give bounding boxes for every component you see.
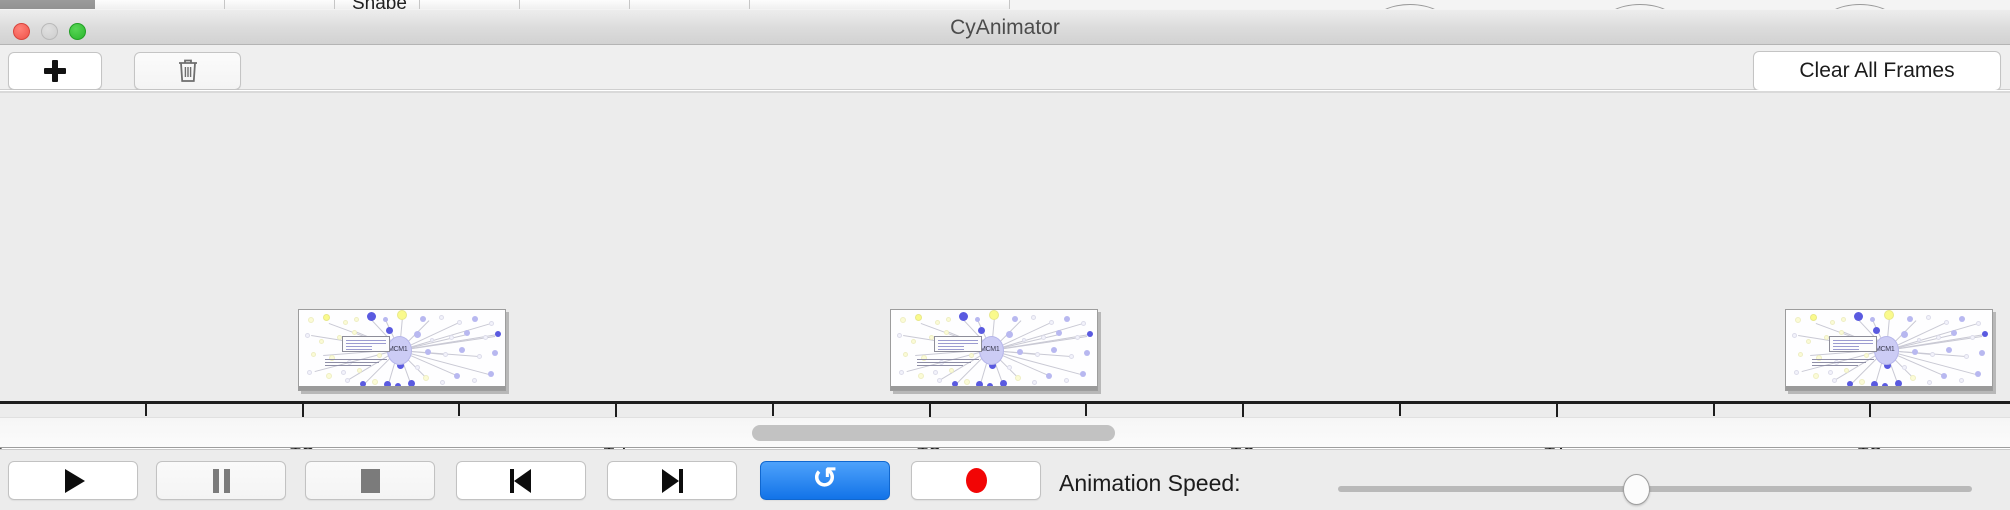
graph-node [1056,330,1062,336]
skip-back-button[interactable] [456,461,586,500]
graph-node [1084,350,1090,356]
graph-node [1046,373,1052,379]
network-graph: MCM1 [1786,310,1992,390]
graph-node [1830,320,1835,325]
graph-node [1069,354,1074,359]
graph-node [1970,335,1975,340]
graph-node [1841,317,1846,322]
annotation-text-line [1833,349,1859,350]
graph-node [319,339,324,344]
graph-node [1941,373,1947,379]
graph-node [1873,327,1880,334]
skip-back-icon [510,469,532,493]
graph-node [1944,320,1949,325]
graph-node [345,378,350,383]
graph-node [975,317,980,322]
graph-caption-line [1812,359,1874,360]
graph-node [946,317,951,322]
graph-node [357,368,362,373]
graph-node [308,317,314,323]
thumbnail-bottom-bar [299,386,505,390]
graph-node [1975,371,1981,377]
clear-all-frames-button[interactable]: Clear All Frames [1753,51,2001,91]
graph-node [937,378,942,383]
graph-node [472,316,478,322]
graph-node [929,335,934,340]
network-graph: MCM1 [299,310,505,390]
axis-tick [772,404,774,416]
graph-caption-line [917,362,971,363]
title-bar[interactable]: CyAnimator [0,9,2010,45]
graph-caption-line [917,359,979,360]
graph-node [386,327,393,334]
graph-caption-line [1812,365,1858,366]
frame-thumbnail[interactable]: MCM1 [298,309,506,391]
graph-caption-line [917,365,963,366]
annotation-text-line [1833,346,1859,347]
graph-node [1810,314,1817,321]
graph-node [1035,352,1040,357]
graph-node [1795,317,1801,323]
graph-node [1792,333,1797,338]
annotation-text-line [1833,343,1873,344]
graph-node [477,354,482,359]
transport-bar: ↺ Animation Speed: [0,449,2010,510]
graph-node [969,353,974,358]
graph-node [1012,316,1018,322]
graph-node [1979,350,1985,356]
graph-node [430,338,434,342]
graph-node [1041,335,1046,340]
graph-node [978,327,985,334]
annotation-box [1829,336,1877,352]
animation-speed-label: Animation Speed: [1059,470,1241,497]
axis-tick [1713,404,1715,416]
loop-icon: ↺ [812,464,837,494]
graph-caption-line [325,365,371,366]
graph-node [964,379,970,385]
graph-node [1006,331,1013,338]
graph-node [423,375,429,381]
graph-node [397,310,407,320]
graph-node [439,315,444,320]
axis-tick [458,404,460,416]
graph-node [1087,331,1093,337]
timeline-panel[interactable]: MCM1MCM1MCM1 12131415161718 Seconds [0,90,2010,417]
graph-node [935,320,940,325]
record-button[interactable] [911,461,1041,500]
graph-node [1884,310,1894,320]
graph-node [949,368,954,373]
graph-node [1839,330,1844,335]
graph-node [1951,330,1957,336]
graph-node [307,370,312,375]
timeline-top-divider [0,91,2010,93]
graph-node [1901,331,1908,338]
graph-node [933,370,938,375]
frame-thumbnail[interactable]: MCM1 [890,309,1098,391]
graph-node [341,370,346,375]
graph-node [443,352,448,357]
skip-forward-icon [661,469,683,493]
graph-node [1813,373,1819,379]
annotation-text-line [938,343,978,344]
hub-node-label: MCM1 [1875,346,1894,353]
graph-node [1946,347,1952,353]
thumbnail-bottom-bar [1786,386,1992,390]
hub-node-label: MCM1 [388,346,407,353]
annotation-text-line [346,343,386,344]
pause-button[interactable] [156,461,286,500]
graph-node [1064,378,1069,383]
annotation-text-line [938,340,978,341]
graph-node [372,379,378,385]
delete-frame-button[interactable] [134,52,241,90]
graph-node [311,352,316,357]
graph-node [1936,335,1941,340]
annotation-text-line [346,340,386,341]
graph-node [1902,365,1907,370]
graph-node [1870,317,1875,322]
graph-node [1015,375,1021,381]
graph-node [483,335,488,340]
graph-node [1859,379,1865,385]
annotation-text-line [346,349,372,350]
graph-node [1049,320,1054,325]
play-icon [65,469,85,493]
graph-node [959,312,968,321]
graph-node [1051,347,1057,353]
graph-node [1964,354,1969,359]
graph-node [495,331,501,337]
graph-node [918,373,924,379]
graph-node [425,349,431,355]
graph-node [420,316,426,322]
add-frame-button[interactable] [8,52,102,90]
graph-node [464,330,470,336]
graph-node [337,335,342,340]
annotation-text-line [346,346,372,347]
graph-node [1910,375,1916,381]
annotation-text-line [1833,340,1873,341]
toolbar: Clear All Frames [0,45,2010,90]
pause-icon [213,469,230,493]
graph-node [449,335,454,340]
graph-node [1794,370,1799,375]
graph-node [459,347,465,353]
graph-caption-line [1812,362,1866,363]
timeline-scrollbar[interactable] [0,417,2010,448]
graph-caption-line [325,362,379,363]
graph-node [329,355,335,361]
graph-node [1806,339,1811,344]
graph-node [1032,380,1037,385]
annotation-text-line [938,346,964,347]
hub-node-label: MCM1 [980,346,999,353]
graph-node [1927,380,1932,385]
axis-tick [145,404,147,416]
graph-node [472,378,477,383]
graph-node [1912,349,1918,355]
annotation-box [342,336,390,352]
graph-node [1824,335,1829,340]
graph-node [1031,315,1036,320]
graph-node [1917,338,1921,342]
graph-caption-line [325,359,387,360]
graph-node [1959,378,1964,383]
graph-node [488,371,494,377]
graph-node [305,333,310,338]
graph-node [915,314,922,321]
graph-node [1907,316,1913,322]
graph-node [1798,352,1803,357]
graph-node [1930,352,1935,357]
graph-node [1864,353,1869,358]
graph-node [911,339,916,344]
graph-node [489,321,494,326]
graph-node [414,331,421,338]
graph-node [944,330,949,335]
stop-button[interactable] [305,461,435,500]
graph-node [1816,355,1822,361]
animation-speed-slider[interactable] [1338,486,1972,492]
graph-node [1064,316,1070,322]
graph-node [921,355,927,361]
graph-node [352,330,357,335]
graph-node [1959,316,1965,322]
animation-speed-thumb[interactable] [1623,474,1650,505]
axis-tick [1085,404,1087,416]
graph-node [1007,365,1012,370]
graph-node [900,317,906,323]
thumbnail-bottom-bar [891,386,1097,390]
graph-node [899,370,904,375]
axis-tick [1399,404,1401,416]
record-icon [966,468,987,493]
graph-node [440,380,445,385]
graph-node [1080,371,1086,377]
play-button[interactable] [8,461,138,500]
window-title: CyAnimator [0,10,2010,46]
graph-node [383,317,388,322]
graph-node [1982,331,1988,337]
graph-node [492,350,498,356]
graph-node [1828,370,1833,375]
annotation-text-line [938,349,964,350]
frame-thumbnail[interactable]: MCM1 [1785,309,1993,391]
graph-node [1832,378,1837,383]
graph-node [367,312,376,321]
graph-node [897,333,902,338]
graph-node [354,317,359,322]
graph-node [1081,321,1086,326]
graph-node [989,310,999,320]
graph-node [457,320,462,325]
graph-node [1022,338,1026,342]
graph-node [454,373,460,379]
graph-node [377,353,382,358]
graph-node [343,320,348,325]
skip-forward-button[interactable] [607,461,737,500]
graph-node [1075,335,1080,340]
graph-node [1844,368,1849,373]
trash-icon [177,58,199,84]
graph-node [1017,349,1023,355]
network-graph: MCM1 [891,310,1097,390]
graph-node [326,373,332,379]
graph-node [1854,312,1863,321]
graph-node [903,352,908,357]
scrollbar-thumb[interactable] [752,425,1115,441]
graph-node [1926,315,1931,320]
annotation-box [934,336,982,352]
graph-node [1976,321,1981,326]
cyanimator-window: Shape CyAnimator Clear All Frames MCM1MC [0,0,2010,510]
graph-node [323,314,330,321]
loop-button[interactable]: ↺ [760,461,890,500]
plus-icon [44,60,66,82]
stop-icon [361,469,380,493]
graph-node [415,365,420,370]
